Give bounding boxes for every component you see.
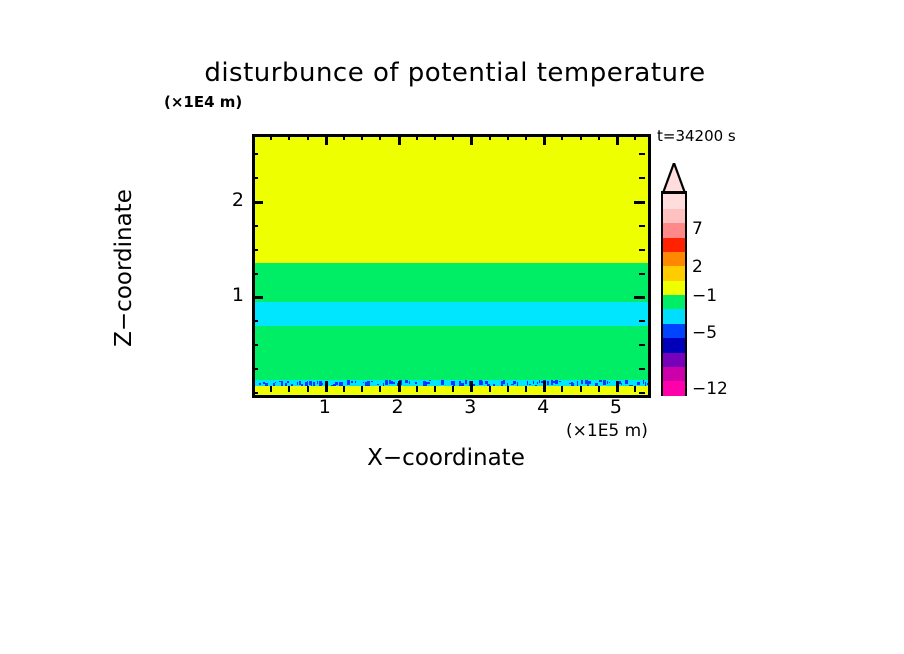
noise-pixel xyxy=(275,382,276,383)
y-tick-minor-right xyxy=(639,392,645,394)
y-tick-minor-right xyxy=(639,320,645,322)
colorbar-segment xyxy=(663,236,685,252)
y-tick-minor-right xyxy=(639,177,645,179)
x-tick-major xyxy=(398,381,401,392)
noise-pixel xyxy=(539,380,540,383)
x-tick-minor-top xyxy=(379,134,381,140)
colorbar-segment xyxy=(663,222,685,238)
noise-pixel xyxy=(527,381,528,385)
y-tick-major-right xyxy=(634,296,645,299)
noise-pixel xyxy=(265,383,268,386)
colorbar-segment xyxy=(663,322,685,338)
contour-band xyxy=(255,326,648,380)
y-tick-label: 2 xyxy=(222,189,244,211)
x-tick-minor xyxy=(361,386,363,392)
colorbar-label: 2 xyxy=(692,257,703,277)
y-tick-major xyxy=(252,296,263,299)
contour-band xyxy=(255,137,648,263)
x-tick-minor-top xyxy=(434,134,436,140)
y-axis-title: Z−coordinate xyxy=(111,138,137,398)
colorbar-label: 7 xyxy=(692,219,703,239)
noise-pixel xyxy=(281,381,283,386)
x-tick-minor xyxy=(634,386,636,392)
contour-plot-figure: disturbunce of potential temperature (×1… xyxy=(0,0,904,654)
noise-pixel xyxy=(513,381,516,384)
noise-pixel xyxy=(589,381,591,384)
noise-pixel xyxy=(377,384,379,385)
y-tick-minor xyxy=(252,368,258,370)
noise-pixel xyxy=(393,382,395,384)
x-tick-minor xyxy=(507,386,509,392)
y-tick-minor xyxy=(252,320,258,322)
y-tick-minor-right xyxy=(639,153,645,155)
noise-pixel xyxy=(621,383,622,385)
x-tick-minor xyxy=(598,386,600,392)
y-tick-major-right xyxy=(634,201,645,204)
x-tick-minor-top xyxy=(598,134,600,140)
noise-pixel xyxy=(285,383,287,386)
x-tick-minor-top xyxy=(634,134,636,140)
noise-pixel xyxy=(609,382,610,383)
y-tick-minor-right xyxy=(639,225,645,227)
noise-pixel xyxy=(301,384,303,386)
noise-pixel xyxy=(517,382,518,386)
noise-pixel xyxy=(443,380,444,385)
x-tick-minor-top xyxy=(580,134,582,140)
noise-pixel xyxy=(603,380,606,385)
x-tick-minor-top xyxy=(416,134,418,140)
colorbar-segment xyxy=(663,265,685,281)
y-tick-minor-right xyxy=(639,344,645,346)
noise-pixel xyxy=(313,382,315,386)
noise-pixel xyxy=(647,383,648,385)
x-axis-scale-label: (×1E5 m) xyxy=(566,421,648,441)
x-axis-title: X−coordinate xyxy=(296,445,596,471)
x-tick-minor xyxy=(343,386,345,392)
noise-pixel xyxy=(335,382,338,385)
timestamp-label: t=34200 s xyxy=(657,127,736,145)
x-tick-minor xyxy=(561,386,563,392)
colorbar-segment xyxy=(663,337,685,353)
noise-pixel xyxy=(287,381,289,383)
noise-pixel xyxy=(547,381,549,385)
noise-pixel xyxy=(317,381,318,384)
x-tick-major-top xyxy=(325,134,328,145)
x-tick-minor xyxy=(270,386,272,392)
noise-pixel xyxy=(511,384,514,385)
y-tick-minor xyxy=(252,153,258,155)
x-tick-minor xyxy=(525,386,527,392)
x-tick-label: 5 xyxy=(601,396,631,418)
noise-pixel xyxy=(429,380,431,381)
noise-pixel xyxy=(273,383,275,386)
noise-pixel xyxy=(465,380,467,384)
y-tick-minor xyxy=(252,273,258,275)
noise-pixel xyxy=(415,382,417,384)
noise-pixel xyxy=(385,380,388,385)
x-tick-minor xyxy=(452,386,454,392)
x-tick-minor xyxy=(379,386,381,392)
noise-pixel xyxy=(291,384,293,386)
colorbar-segment xyxy=(663,365,685,381)
colorbar-segment xyxy=(663,279,685,295)
x-tick-major xyxy=(470,381,473,392)
noise-pixel xyxy=(371,381,373,382)
x-tick-label: 3 xyxy=(455,396,485,418)
noise-pixel xyxy=(427,382,430,384)
x-tick-major xyxy=(616,381,619,392)
noise-pixel xyxy=(533,381,534,384)
plot-canvas xyxy=(252,134,651,398)
noise-pixel xyxy=(555,380,558,384)
noise-pixel xyxy=(409,381,410,384)
colorbar-segment xyxy=(663,250,685,266)
noise-pixel xyxy=(363,382,364,383)
z-axis-scale-label: (×1E4 m) xyxy=(164,93,242,111)
x-tick-minor-top xyxy=(307,134,309,140)
colorbar-segment xyxy=(663,351,685,367)
colorbar-label: −5 xyxy=(692,323,717,343)
x-tick-major xyxy=(325,381,328,392)
colorbar-segment xyxy=(663,308,685,324)
x-tick-major-top xyxy=(543,134,546,145)
noise-pixel xyxy=(599,380,602,382)
y-tick-minor-right xyxy=(639,273,645,275)
contour-band xyxy=(255,263,648,302)
colorbar-label: −12 xyxy=(692,379,728,399)
x-tick-label: 4 xyxy=(528,396,558,418)
noise-pixel xyxy=(607,381,608,384)
x-tick-minor xyxy=(580,386,582,392)
y-tick-minor xyxy=(252,225,258,227)
noise-pixel xyxy=(307,381,308,386)
x-tick-minor xyxy=(434,386,436,392)
y-tick-major xyxy=(252,201,263,204)
noise-pixel xyxy=(355,381,356,383)
x-tick-minor-top xyxy=(525,134,527,140)
noise-pixel xyxy=(347,380,350,385)
noise-pixel xyxy=(581,380,583,384)
noise-pixel xyxy=(645,382,646,386)
x-tick-minor-top xyxy=(507,134,509,140)
colorbar xyxy=(661,191,687,396)
colorbar-segment xyxy=(663,380,685,396)
x-tick-minor-top xyxy=(252,134,254,140)
noise-pixel xyxy=(503,380,505,384)
noise-pixel xyxy=(537,382,538,384)
x-tick-label: 1 xyxy=(310,396,340,418)
noise-pixel xyxy=(637,382,640,385)
noise-pixel xyxy=(529,384,531,385)
noise-pixel xyxy=(405,380,408,383)
y-tick-label: 1 xyxy=(222,284,244,306)
noise-pixel xyxy=(351,381,353,383)
x-tick-label: 2 xyxy=(383,396,413,418)
y-tick-minor xyxy=(252,249,258,251)
x-tick-minor xyxy=(416,386,418,392)
noise-pixel xyxy=(453,381,455,386)
x-tick-major xyxy=(543,381,546,392)
y-tick-minor xyxy=(252,344,258,346)
colorbar-label: −1 xyxy=(692,286,717,306)
x-tick-minor-top xyxy=(561,134,563,140)
noise-pixel xyxy=(643,380,644,384)
x-tick-major-top xyxy=(398,134,401,145)
y-tick-minor xyxy=(252,177,258,179)
x-tick-major-top xyxy=(616,134,619,145)
x-tick-minor xyxy=(307,386,309,392)
noise-pixel xyxy=(625,380,628,384)
noise-pixel xyxy=(559,381,561,382)
noise-pixel xyxy=(481,381,483,385)
noise-pixel xyxy=(367,381,370,386)
x-tick-minor-top xyxy=(270,134,272,140)
noise-pixel xyxy=(461,383,464,386)
x-tick-minor xyxy=(288,386,290,392)
noise-pixel xyxy=(321,383,323,385)
x-tick-major-top xyxy=(470,134,473,145)
colorbar-extend-arrow xyxy=(661,163,687,193)
y-tick-minor-right xyxy=(639,368,645,370)
noise-pixel xyxy=(577,381,578,386)
colorbar-segment xyxy=(663,193,685,209)
noise-pixel xyxy=(297,382,298,385)
x-tick-minor-top xyxy=(361,134,363,140)
colorbar-segment xyxy=(663,207,685,223)
y-tick-minor-right xyxy=(639,249,645,251)
page-title: disturbunce of potential temperature xyxy=(170,58,740,88)
contour-band xyxy=(255,302,648,326)
x-tick-minor-top xyxy=(452,134,454,140)
x-tick-minor-top xyxy=(343,134,345,140)
noise-pixel xyxy=(401,380,402,385)
x-tick-minor xyxy=(489,386,491,392)
x-tick-minor-top xyxy=(489,134,491,140)
y-tick-minor xyxy=(252,392,258,394)
x-tick-minor-top xyxy=(288,134,290,140)
colorbar-segment xyxy=(663,294,685,310)
noise-pixel xyxy=(259,383,261,385)
